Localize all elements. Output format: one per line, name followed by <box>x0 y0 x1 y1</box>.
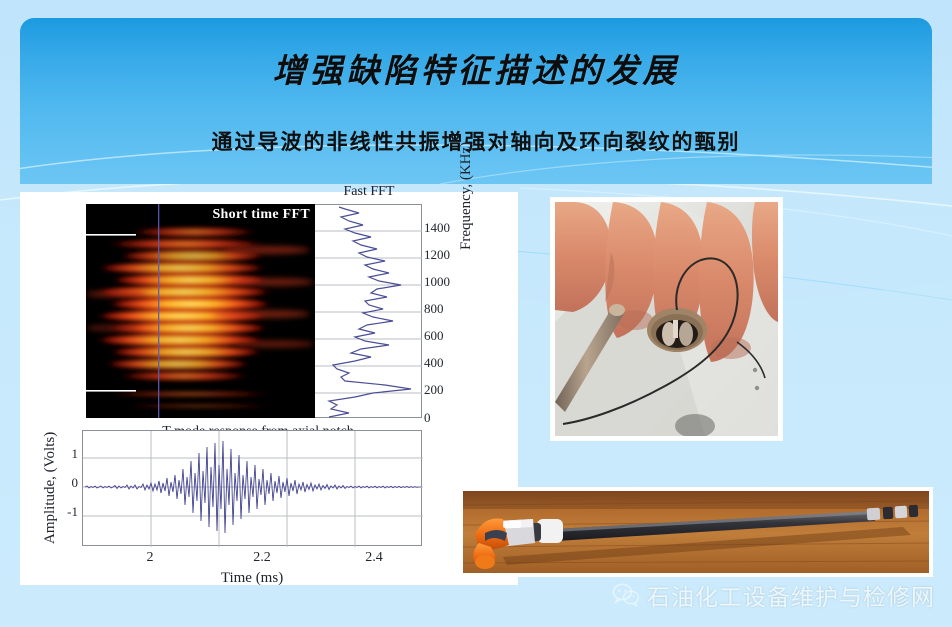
freq-tick-400: 400 <box>424 355 468 371</box>
frequency-axis-label: Frequency, (KHz) <box>458 142 475 250</box>
spectrogram-chart: Short time FFT <box>86 204 315 418</box>
slide-header: 增强缺陷特征描述的发展 通过导波的非线性共振增强对轴向及环向裂纹的甄别 <box>20 18 932 184</box>
amp-tick-0: 0 <box>72 475 79 491</box>
watermark: 石油化工设备维护与检修网 <box>612 578 935 612</box>
charts-panel: Fast FFT <box>20 192 518 585</box>
amp-tick-1: 1 <box>72 446 79 462</box>
time-tick-2-2: 2.2 <box>253 550 271 566</box>
header-swoosh-decoration <box>20 18 932 184</box>
transducer-in-hand-photo <box>551 198 782 440</box>
watermark-text: 石油化工设备维护与检修网 <box>647 578 935 612</box>
freq-tick-600: 600 <box>424 328 468 344</box>
page-subtitle: 通过导波的非线性共振增强对轴向及环向裂纹的甄别 <box>20 126 932 156</box>
amp-tick-neg1: -1 <box>67 504 78 520</box>
waveform-chart <box>82 430 422 546</box>
time-tick-2: 2 <box>147 550 154 566</box>
guided-wave-probe-photo <box>459 487 933 577</box>
freq-tick-0: 0 <box>424 410 468 426</box>
freq-tick-800: 800 <box>424 301 468 317</box>
freq-tick-1000: 1000 <box>424 274 468 290</box>
fast-fft-title: Fast FFT <box>315 184 423 200</box>
time-axis-label: Time (ms) <box>82 570 422 587</box>
slide: 增强缺陷特征描述的发展 通过导波的非线性共振增强对轴向及环向裂纹的甄别 Fast… <box>0 0 952 627</box>
spectrogram-label: Short time FFT <box>212 207 310 223</box>
time-tick-2-4: 2.4 <box>365 550 383 566</box>
time-axis-ticks: 2 2.2 2.4 <box>82 550 422 570</box>
freq-tick-200: 200 <box>424 382 468 398</box>
amplitude-axis-label: Amplitude, (Volts) <box>42 432 59 544</box>
page-title: 增强缺陷特征描述的发展 <box>20 44 932 92</box>
wechat-icon <box>612 583 640 607</box>
fast-fft-chart <box>315 204 422 418</box>
